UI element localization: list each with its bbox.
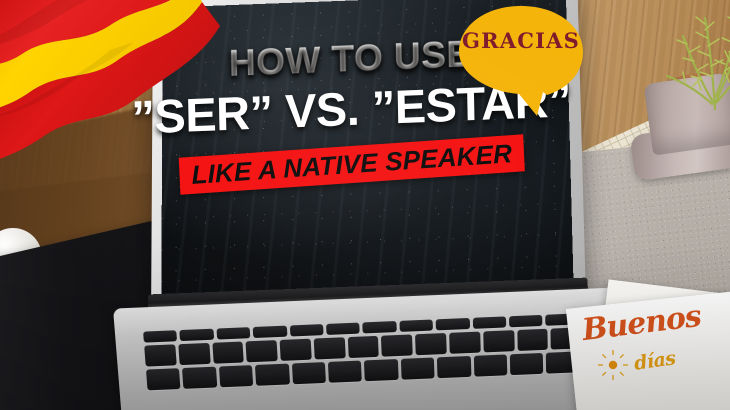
key [436, 318, 470, 330]
key [326, 323, 360, 335]
key [178, 343, 210, 365]
key [364, 359, 398, 381]
key [437, 356, 471, 378]
key [449, 332, 480, 354]
plant-leaves-icon [655, 0, 730, 114]
key [216, 327, 250, 339]
key [473, 354, 507, 376]
key [143, 330, 177, 342]
key [253, 326, 287, 338]
sun-doodle-icon [596, 348, 630, 382]
key [509, 315, 543, 327]
key [401, 357, 435, 379]
key [144, 344, 176, 366]
key [483, 330, 514, 352]
key [328, 361, 362, 383]
key [291, 362, 325, 384]
key [517, 329, 548, 351]
laptop-keyboard [143, 312, 616, 410]
gracias-speech-bubble [457, 4, 585, 122]
gracias-label: GRACIAS [457, 28, 585, 53]
key [289, 324, 323, 336]
key [180, 329, 214, 341]
key [472, 316, 506, 328]
key [255, 364, 290, 386]
key [219, 365, 254, 387]
key [347, 336, 379, 358]
key [399, 319, 433, 331]
key [246, 340, 278, 362]
key [510, 353, 544, 375]
spanish-flag-icon [0, 0, 242, 188]
key [314, 337, 346, 359]
thumbnail-graphic: HOW TO USE ”SER” VS. ”ESTAR” LIKE A NATI… [0, 0, 730, 410]
key [212, 342, 244, 364]
laptop-base [113, 287, 630, 410]
key [182, 367, 217, 389]
key [415, 333, 447, 355]
key [280, 339, 312, 361]
key [146, 368, 181, 390]
key [381, 334, 413, 356]
key [363, 321, 397, 333]
